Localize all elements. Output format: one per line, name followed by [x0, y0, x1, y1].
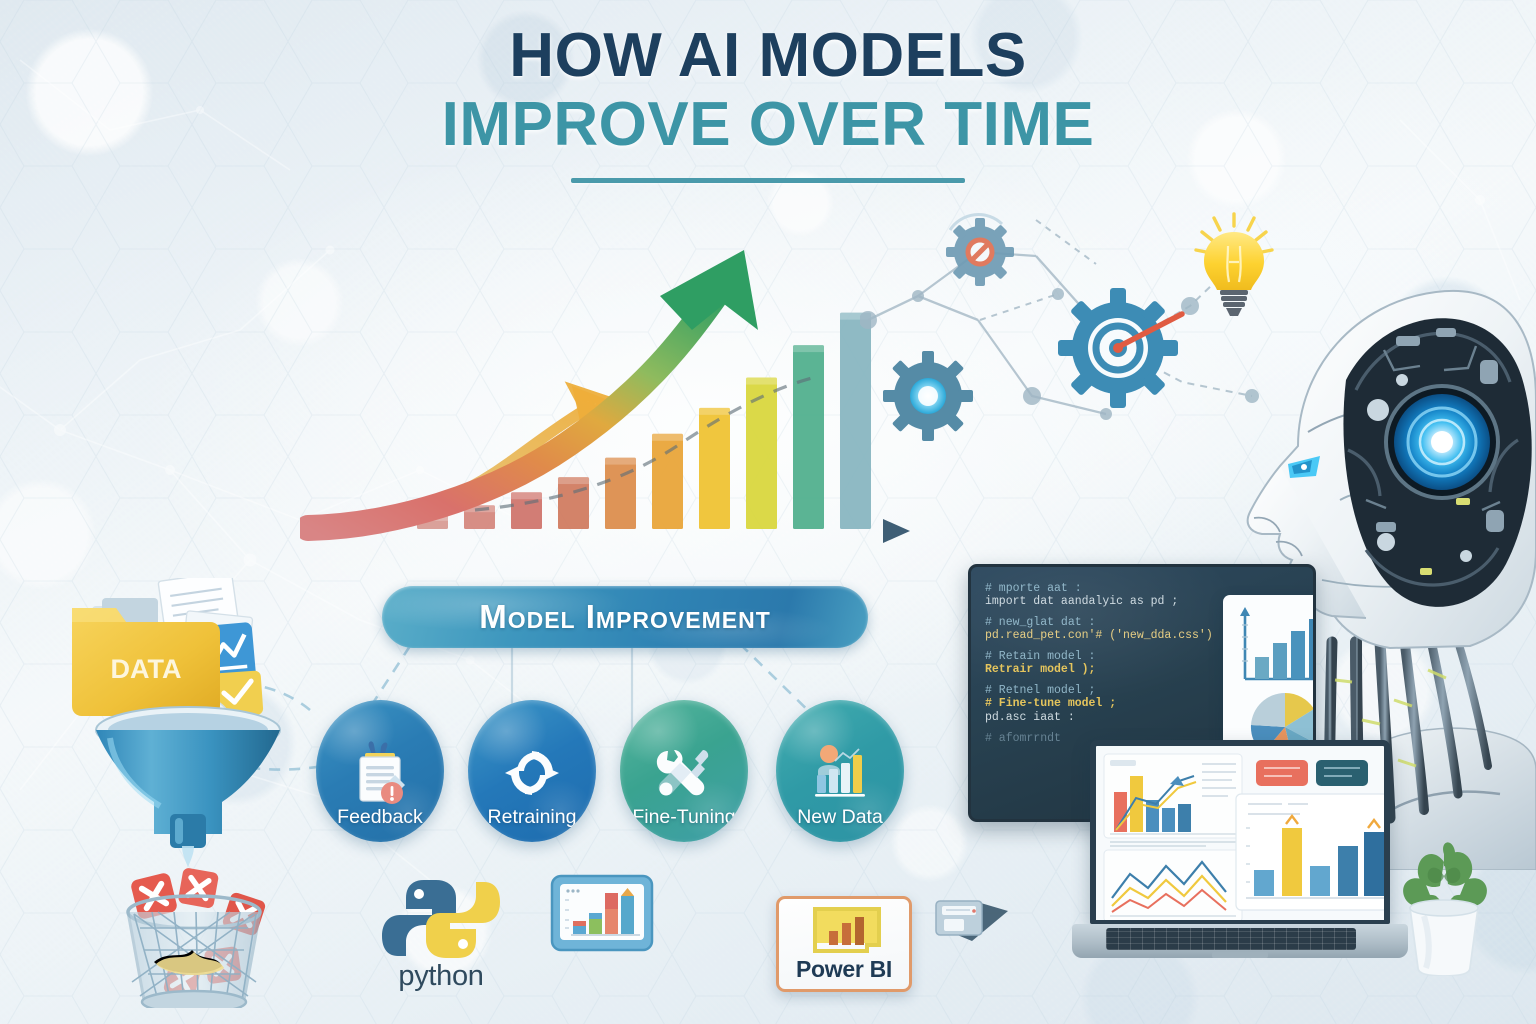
infographic-canvas: How AI Models Improve Over Time: [0, 0, 1536, 1024]
gear-core-icon: [883, 351, 973, 441]
chart-bar: [652, 434, 683, 529]
laptop-dashboard-icon[interactable]: [1072, 740, 1408, 990]
gear-target-icon: [1058, 288, 1182, 408]
chart-bar-highlight: [652, 434, 683, 441]
gear-blocked-icon: [946, 215, 1014, 286]
chart-bar-highlight: [793, 345, 824, 352]
model-improvement-badge[interactable]: Model Improvement: [382, 586, 868, 648]
chart-bar-highlight: [699, 408, 730, 415]
pillar-label: Feedback: [337, 806, 423, 829]
pillar-row: Feedback Retraining: [316, 700, 956, 850]
laptop-screen: [1090, 740, 1390, 924]
chart-bar: [699, 408, 730, 529]
chart-bar: [793, 345, 824, 529]
sidebar-item-feedback[interactable]: Feedback: [316, 700, 444, 842]
chart-bar-highlight: [558, 477, 589, 484]
sidebar-item-new-data[interactable]: New Data: [776, 700, 904, 842]
chart-bar-highlight: [605, 458, 636, 465]
wrench-tools-icon: [647, 742, 721, 804]
pillar-label: Fine-Tuning: [632, 806, 735, 829]
page-title: How AI Models Improve Over Time: [0, 24, 1536, 183]
chart-bar: [746, 378, 777, 529]
potted-plant-icon: [1384, 836, 1504, 976]
power-bi-logo-icon[interactable]: Power BI: [776, 896, 912, 992]
python-label: python: [378, 960, 504, 993]
chart-bar-highlight: [746, 378, 777, 385]
chart-bar-highlight: [511, 492, 542, 499]
sidebar-item-fine-tuning[interactable]: Fine-Tuning: [620, 700, 748, 842]
data-funnel-group: DATA: [58, 578, 348, 1008]
clipboard-icon: [343, 742, 417, 804]
python-logo-icon[interactable]: python: [378, 876, 504, 996]
chart-bar: [558, 477, 589, 529]
code-line: # mporte aat :: [985, 583, 1299, 595]
chart-bar: [605, 458, 636, 529]
badge-label: Model Improvement: [479, 598, 771, 636]
title-divider: [571, 178, 965, 183]
chart-axis-arrow: [883, 519, 910, 543]
title-line-2: Improve Over Time: [0, 93, 1536, 156]
tablet-chart-icon[interactable]: [548, 862, 656, 958]
pillar-label: New Data: [797, 806, 883, 829]
sidebar-item-retraining[interactable]: Retraining: [468, 700, 596, 842]
folder-label: DATA: [111, 654, 182, 684]
refresh-cycle-icon: [495, 742, 569, 804]
laptop-keyboard[interactable]: [1106, 928, 1356, 950]
growth-bar-chart: [300, 248, 920, 548]
waste-basket-icon: [128, 896, 260, 1008]
laptop-trackpad[interactable]: [1212, 952, 1268, 958]
title-line-1: How AI Models: [0, 24, 1536, 87]
funnel-icon: [96, 707, 280, 878]
pillar-label: Retraining: [488, 806, 577, 829]
bar-chart-icon: [803, 742, 877, 804]
powerbi-label: Power BI: [796, 956, 892, 983]
